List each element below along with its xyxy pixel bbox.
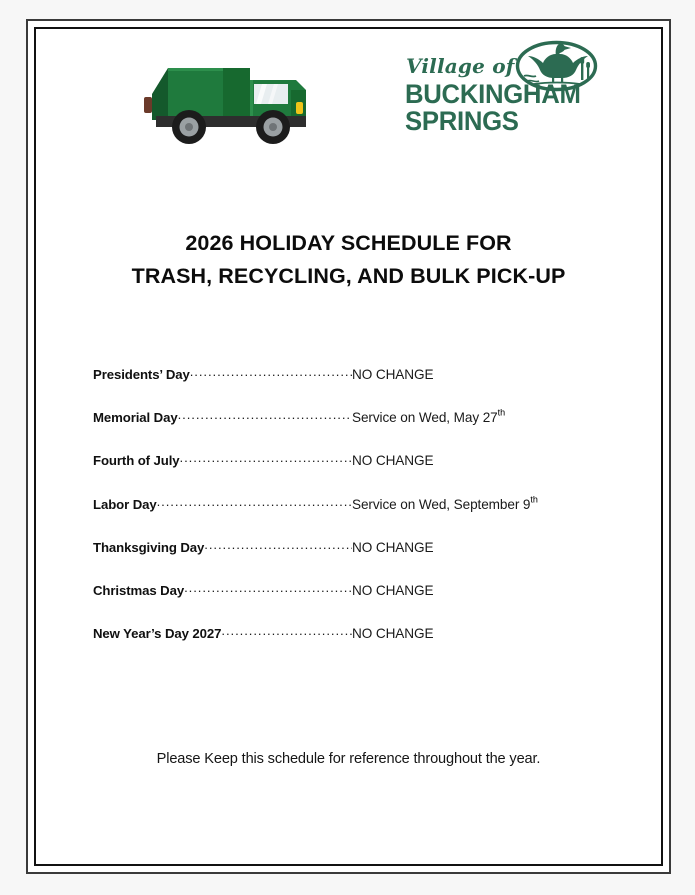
leader-dots: ........................................…	[157, 494, 352, 509]
logo-script-text: Village of	[406, 54, 515, 78]
holiday-status: NO CHANGE	[352, 626, 433, 641]
holiday-status-ordinal: th	[530, 494, 538, 504]
holiday-status: Service on Wed, September 9	[352, 497, 530, 512]
holiday-name: Fourth of July	[93, 453, 180, 468]
document-header: Village of	[36, 29, 661, 154]
holiday-name: Presidents’ Day	[93, 367, 190, 382]
leader-dots: ........................................…	[184, 580, 352, 595]
document-title-line2: TRASH, RECYCLING, AND BULK PICK-UP	[36, 260, 661, 293]
logo-wordmark-line2: SPRINGS	[405, 106, 519, 136]
document-title-line1: 2026 HOLIDAY SCHEDULE FOR	[36, 227, 661, 260]
holiday-name: Thanksgiving Day	[93, 540, 204, 555]
schedule-row: New Year’s Day 2027.....................…	[36, 623, 661, 666]
schedule-row: Presidents’ Day.........................…	[36, 364, 661, 407]
schedule-row: Thanksgiving Day........................…	[36, 537, 661, 580]
village-logo: Village of	[401, 43, 601, 148]
holiday-schedule-list: Presidents’ Day.........................…	[36, 364, 661, 666]
holiday-status: NO CHANGE	[352, 453, 433, 468]
footer-note: Please Keep this schedule for reference …	[36, 751, 661, 767]
holiday-status: NO CHANGE	[352, 540, 433, 555]
leader-dots: ........................................…	[178, 407, 352, 422]
logo-wordmark: BUCKINGHAM SPRINGS	[405, 81, 581, 135]
holiday-name: Christmas Day	[93, 583, 184, 598]
schedule-row: Fourth of July..........................…	[36, 450, 661, 493]
holiday-status: NO CHANGE	[352, 583, 433, 598]
leader-dots: ........................................…	[204, 537, 352, 552]
document-title: 2026 HOLIDAY SCHEDULE FOR TRASH, RECYCLI…	[36, 227, 661, 293]
page-content: Village of	[36, 29, 661, 864]
holiday-name: Labor Day	[93, 497, 157, 512]
logo-wordmark-line1: BUCKINGHAM	[405, 79, 581, 109]
holiday-status: NO CHANGE	[352, 367, 433, 382]
leader-dots: ........................................…	[221, 623, 352, 638]
garbage-truck-icon	[128, 42, 328, 147]
document-page: Village of	[26, 19, 671, 874]
leader-dots: ........................................…	[180, 450, 352, 465]
leader-dots: ........................................…	[190, 364, 352, 379]
holiday-name: New Year’s Day 2027	[93, 626, 221, 641]
schedule-row: Memorial Day............................…	[36, 407, 661, 450]
schedule-row: Christmas Day...........................…	[36, 580, 661, 623]
schedule-row: Labor Day...............................…	[36, 494, 661, 537]
holiday-name: Memorial Day	[93, 410, 178, 425]
holiday-status: Service on Wed, May 27	[352, 410, 498, 425]
holiday-status-ordinal: th	[498, 408, 506, 418]
